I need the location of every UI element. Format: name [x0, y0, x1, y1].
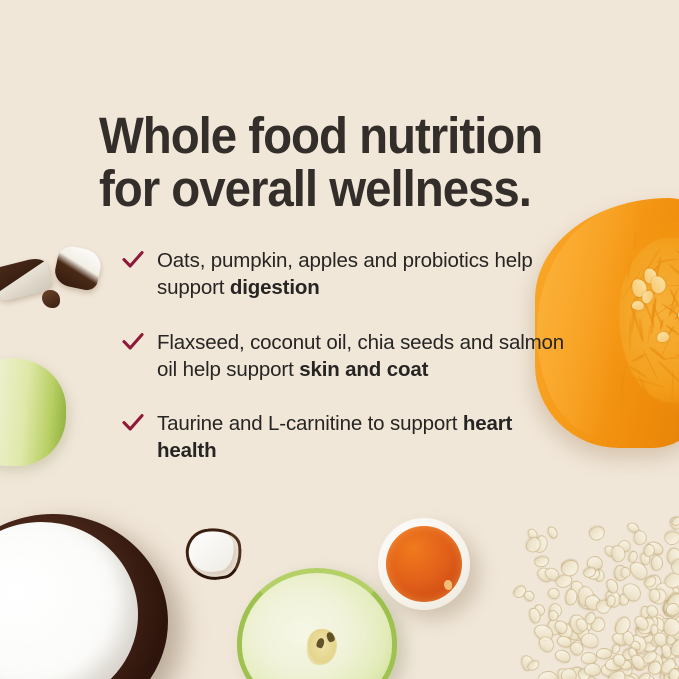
text-content: Whole food nutrition for overall wellnes…: [0, 0, 679, 679]
list-item-text: Taurine and L-carnitine to support: [157, 412, 463, 435]
check-icon: [122, 414, 144, 432]
promo-canvas: Whole food nutrition for overall wellnes…: [0, 0, 679, 679]
list-item-emphasis: digestion: [230, 276, 320, 299]
list-item: Taurine and L-carnitine to support heart…: [122, 410, 572, 465]
benefits-list: Oats, pumpkin, apples and probiotics hel…: [122, 247, 572, 465]
page-title: Whole food nutrition for overall wellnes…: [99, 110, 583, 215]
check-icon: [122, 251, 144, 269]
list-item: Oats, pumpkin, apples and probiotics hel…: [122, 247, 572, 302]
list-item-emphasis: skin and coat: [299, 358, 428, 381]
list-item-text: Oats, pumpkin, apples and probiotics hel…: [157, 249, 533, 299]
check-icon: [122, 333, 144, 351]
list-item: Flaxseed, coconut oil, chia seeds and sa…: [122, 329, 572, 384]
